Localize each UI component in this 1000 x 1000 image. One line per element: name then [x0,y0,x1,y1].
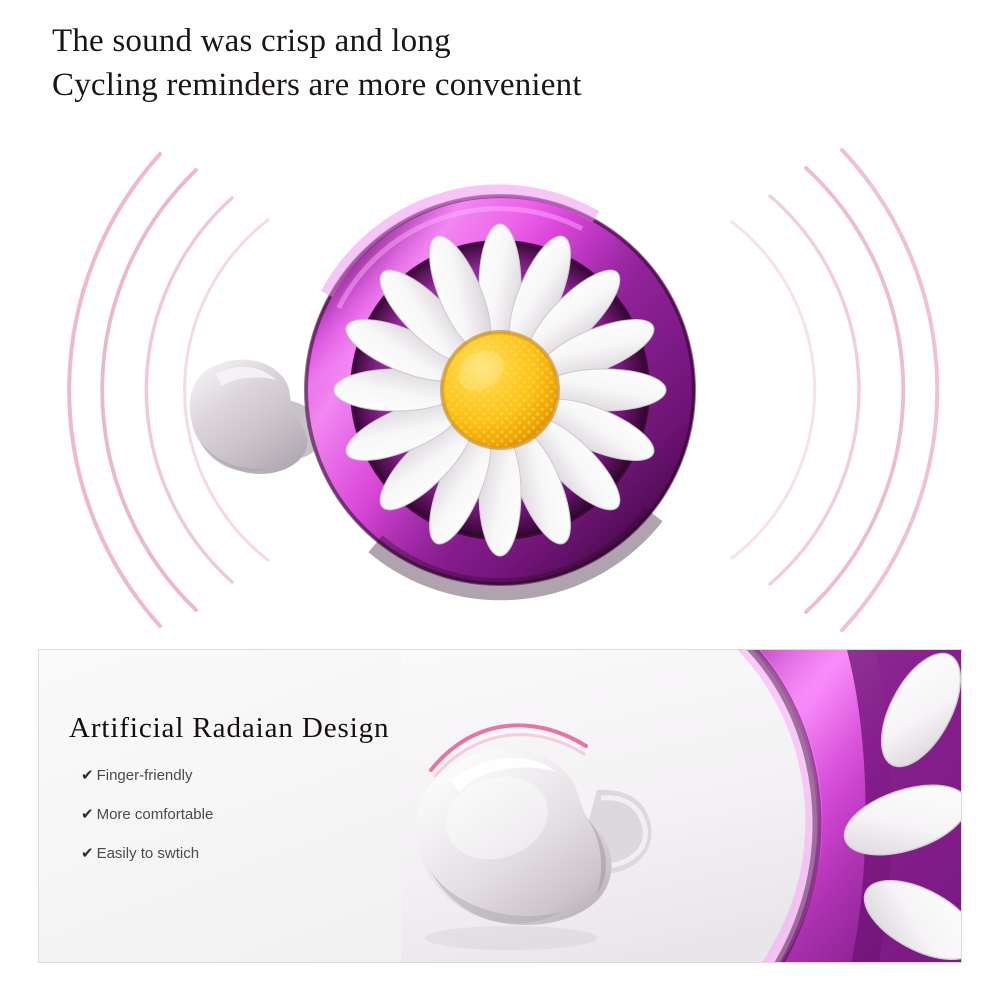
feature-panel-text: Artificial Radaian Design ✔ Finger-frien… [69,712,389,884]
list-item-label: Easily to swtich [97,845,200,862]
daisy-flower [334,224,666,556]
lever-closeup-image [401,650,961,962]
daisy-center [440,330,560,450]
thumb-lever [190,360,323,474]
check-icon: ✔ [81,807,94,822]
feature-panel-heading: Artificial Radaian Design [69,712,389,745]
bicycle-bell-illustration [0,110,1000,640]
list-item: ✔ Finger-friendly [81,767,389,784]
check-icon: ✔ [81,846,94,861]
list-item: ✔ Easily to swtich [81,845,389,862]
check-icon: ✔ [81,768,94,783]
headline-line-1: The sound was crisp and long [52,20,582,64]
lever-closeup-illustration [401,650,961,962]
page-title: The sound was crisp and long Cycling rem… [52,20,582,108]
product-feature-page: The sound was crisp and long Cycling rem… [0,0,1000,1000]
headline-line-2: Cycling reminders are more convenient [52,64,582,108]
list-item: ✔ More comfortable [81,806,389,823]
list-item-label: More comfortable [97,806,214,823]
feature-bullet-list: ✔ Finger-friendly ✔ More comfortable ✔ E… [69,767,389,862]
hero-product-image [0,110,1000,640]
feature-panel: Artificial Radaian Design ✔ Finger-frien… [38,649,962,963]
list-item-label: Finger-friendly [97,767,193,784]
